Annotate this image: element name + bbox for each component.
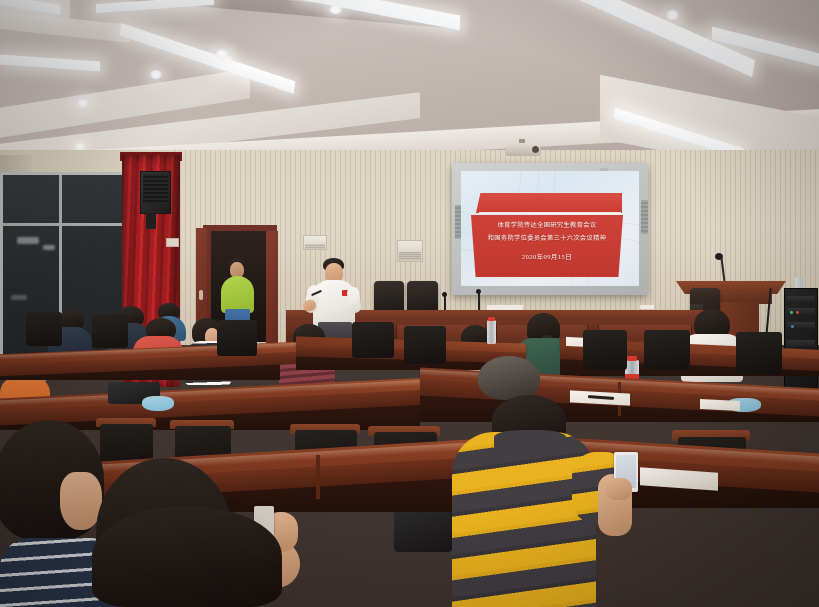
face-mask-on-desk[interactable] xyxy=(142,396,174,411)
papers-on-desk[interactable] xyxy=(700,399,740,411)
dais-papers[interactable] xyxy=(640,305,654,309)
speaker-bracket xyxy=(146,213,156,229)
water-bottle[interactable] xyxy=(487,320,496,344)
slide-separator-line xyxy=(479,212,621,214)
door-leaf-right[interactable] xyxy=(266,231,278,343)
ceiling-downlight xyxy=(77,99,89,107)
dais-chair[interactable] xyxy=(407,281,438,312)
slide-title-line-1: 体育学院传达全国研究生教育会议 xyxy=(471,220,623,229)
av-rack-unit[interactable] xyxy=(787,296,815,303)
board-speaker-grille-right xyxy=(641,200,648,234)
striped-polo-shirt xyxy=(452,432,596,607)
attendee-hand xyxy=(606,478,632,500)
av-status-led xyxy=(796,311,799,314)
conference-room-photo: 体育学院传达全国研究生教育会议 和国务院学位委员会第三十六次会议精神 2020年… xyxy=(0,0,819,607)
air-conditioner-louvers xyxy=(305,244,325,249)
av-rack-unit[interactable] xyxy=(787,340,815,347)
slide-top-banner xyxy=(476,193,622,213)
bottle-cap xyxy=(627,356,637,361)
wall-outlet[interactable] xyxy=(166,238,179,247)
slide-date: 2020年09月15日 xyxy=(471,252,623,261)
doorway-person-shirt xyxy=(221,276,254,313)
attendee-hair xyxy=(92,506,282,607)
av-status-led xyxy=(791,325,794,328)
wall-speaker xyxy=(140,171,171,214)
door-handle[interactable] xyxy=(199,290,203,300)
attendee-hair xyxy=(478,356,540,400)
ceiling-projector xyxy=(506,143,540,156)
bottle-cap xyxy=(488,317,495,321)
dais-chair[interactable] xyxy=(374,281,404,312)
air-conditioner-louvers xyxy=(399,252,421,260)
lectern-microphone[interactable] xyxy=(715,253,723,260)
slide-title-line-2: 和国务院学位委员会第三十六次会议精神 xyxy=(471,233,623,242)
ceiling-downlight xyxy=(329,5,342,14)
desk-divider xyxy=(316,455,320,499)
ceiling-downlight xyxy=(150,70,162,79)
av-status-led xyxy=(790,311,793,314)
polo-collar xyxy=(494,430,566,448)
ceiling-downlight xyxy=(222,56,233,64)
ceiling-downlight xyxy=(666,10,679,20)
